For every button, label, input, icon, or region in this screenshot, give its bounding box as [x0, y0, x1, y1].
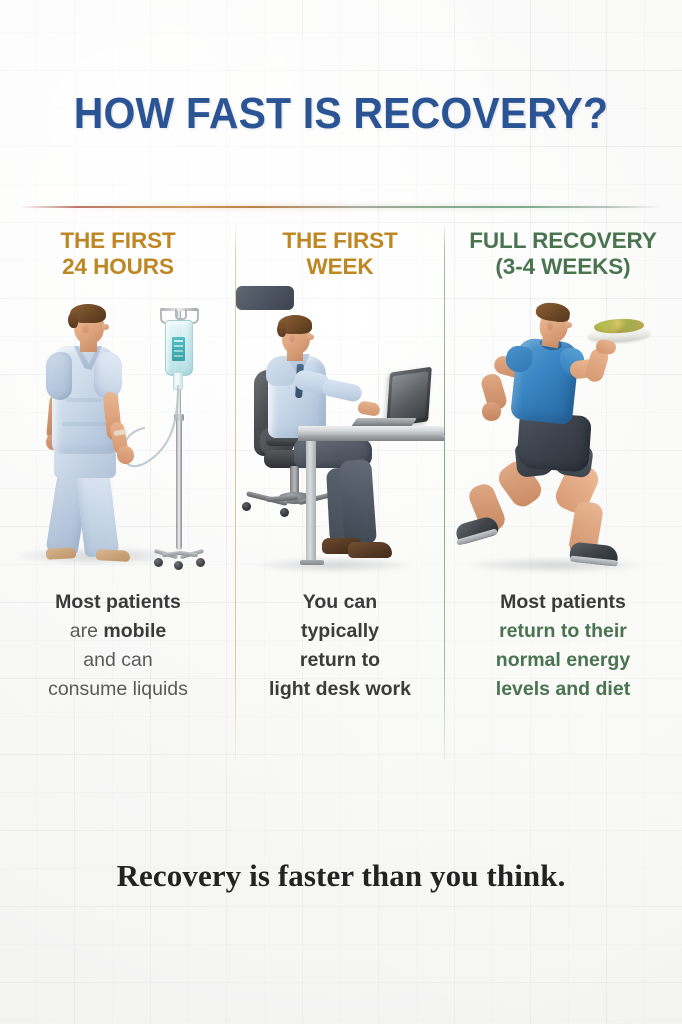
- worker-nose: [307, 334, 314, 340]
- column-first-week: THE FIRSTWEEK: [236, 214, 444, 760]
- column-caption-first-week: You can typically return to light desk w…: [261, 588, 419, 704]
- caption-line-3: and can: [83, 649, 152, 671]
- patient-sandal-back: [46, 547, 77, 560]
- infographic-poster: HOW FAST IS RECOVERY? THE FIRST24 HOURS: [0, 0, 682, 1024]
- worker-shin-front: [339, 459, 377, 545]
- desk-leg: [306, 441, 316, 563]
- caption-line-3: normal energy: [496, 649, 630, 671]
- header-divider: [20, 206, 662, 208]
- patient-hand-gripping-pole: [116, 445, 135, 465]
- iv-caster-2: [174, 561, 183, 570]
- caption-line-4: light desk work: [269, 678, 411, 700]
- iv-fluid-bag: [165, 320, 193, 376]
- column-first-24-hours: THE FIRST24 HOURS: [0, 214, 236, 760]
- heading-line-1: THE FIRST: [282, 228, 397, 253]
- column-heading-first-24-hours: THE FIRST24 HOURS: [60, 228, 175, 280]
- patient-nose: [102, 324, 109, 330]
- desk-surface: [298, 426, 444, 437]
- column-caption-first-24-hours: Most patients are mobile and can consume…: [40, 588, 196, 704]
- heading-line-2: (3-4 WEEKS): [495, 254, 630, 279]
- laptop-display: [389, 371, 428, 423]
- desk-foot: [300, 560, 324, 565]
- patient-ear: [82, 324, 89, 333]
- chair-caster-2: [280, 508, 289, 517]
- caption-line-1: Most patients: [55, 591, 181, 613]
- chair-caster-1: [242, 502, 251, 511]
- scrub-fold-1: [66, 398, 102, 402]
- worker-shoe-front: [348, 542, 392, 558]
- worker-hair-side: [277, 322, 286, 337]
- caption-line-1: You can: [303, 591, 377, 613]
- caption-line-4: consume liquids: [48, 678, 188, 700]
- heading-line-1: THE FIRST: [60, 228, 175, 253]
- worker-trousers-hip: [236, 286, 294, 310]
- runner-ear: [547, 322, 553, 330]
- heading-line-2: WEEK: [306, 254, 373, 279]
- patient-leg-front: [75, 466, 119, 557]
- footer-tagline: Recovery is faster than you think.: [0, 858, 682, 894]
- patient-sleeve-back: [46, 352, 72, 400]
- desk-edge: [298, 437, 444, 441]
- column-caption-full-recovery: Most patients return to their normal ene…: [488, 588, 638, 704]
- iv-bag-label: [172, 337, 185, 361]
- column-full-recovery: FULL RECOVERY(3-4 WEEKS): [444, 214, 682, 760]
- caption-line-4: levels and diet: [496, 678, 630, 700]
- caption-line-2b: mobile: [103, 620, 166, 642]
- patient-sleeve-front: [94, 352, 122, 398]
- heading-line-2: 24 HOURS: [62, 254, 174, 279]
- iv-caster-3: [196, 558, 205, 567]
- patient-figure: [22, 302, 162, 564]
- heading-line-1: FULL RECOVERY: [469, 228, 656, 253]
- caption-line-2a: are: [70, 620, 104, 642]
- patient-sandal-front: [96, 549, 131, 562]
- runner-fist: [482, 402, 501, 421]
- column-heading-full-recovery: FULL RECOVERY(3-4 WEEKS): [469, 228, 656, 280]
- caption-line-2: return to their: [499, 620, 627, 642]
- illustration-patient-walking-with-iv-pole: [0, 286, 236, 586]
- page-title: HOW FAST IS RECOVERY?: [24, 92, 658, 136]
- worker-hand-on-keyboard: [357, 400, 381, 417]
- worker-ear: [289, 334, 295, 342]
- runner-nose: [565, 322, 572, 328]
- figure-ground-shadow: [260, 558, 410, 572]
- scrub-fold-2: [62, 422, 106, 426]
- illustration-man-running-with-plate-of-food: [444, 286, 682, 586]
- iv-hook-middle-icon: [175, 309, 187, 320]
- patient-hair-side: [68, 312, 78, 328]
- column-heading-first-week: THE FIRSTWEEK: [282, 228, 397, 280]
- caption-line-2: typically: [301, 620, 379, 642]
- caption-line-1: Most patients: [500, 591, 626, 613]
- columns-container: THE FIRST24 HOURS: [0, 214, 682, 760]
- illustration-man-at-desk-with-laptop: [236, 286, 444, 586]
- caption-line-3: return to: [300, 649, 380, 671]
- worker-forearm: [321, 378, 364, 403]
